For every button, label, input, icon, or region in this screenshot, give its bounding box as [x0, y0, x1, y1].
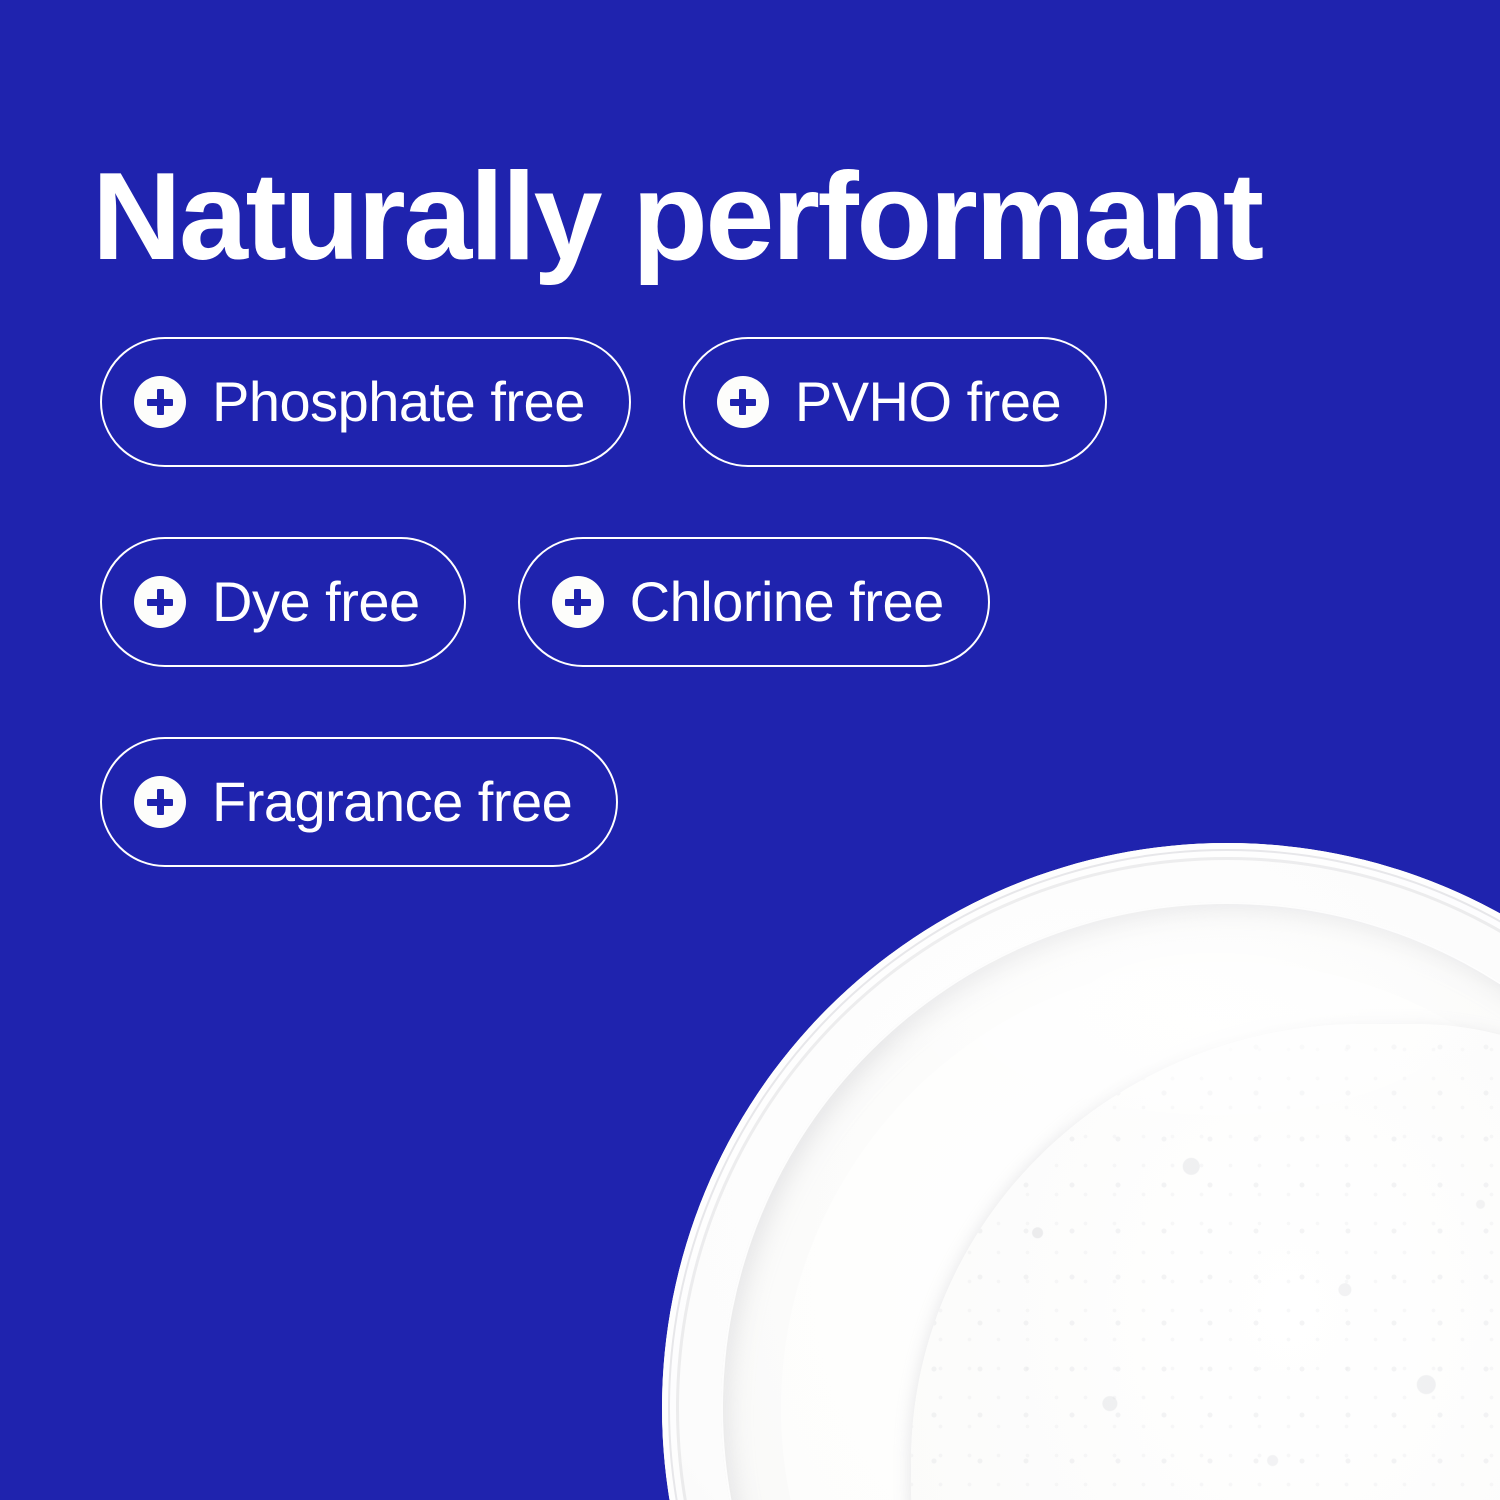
claims-row: Phosphate free PVHO free: [100, 337, 1400, 467]
page-title: Naturally performant: [92, 155, 1422, 279]
claim-pill-pvho-free[interactable]: PVHO free: [683, 337, 1107, 467]
plus-circle-icon: [134, 776, 186, 828]
claim-pill-fragrance-free[interactable]: Fragrance free: [100, 737, 618, 867]
claims-list: Phosphate free PVHO free Dye free Chlori…: [100, 337, 1400, 867]
claim-pill-label: Fragrance free: [212, 774, 572, 830]
claim-pill-label: PVHO free: [795, 374, 1061, 430]
claim-pill-dye-free[interactable]: Dye free: [100, 537, 466, 667]
plus-circle-icon: [717, 376, 769, 428]
promo-banner: Naturally performant Phosphate free PVHO…: [0, 0, 1500, 1500]
plus-circle-icon: [552, 576, 604, 628]
plus-circle-icon: [134, 376, 186, 428]
claim-pill-label: Dye free: [212, 574, 420, 630]
claim-pill-label: Chlorine free: [630, 574, 944, 630]
foam-bowl-image: [662, 843, 1500, 1500]
claim-pill-chlorine-free[interactable]: Chlorine free: [518, 537, 990, 667]
claim-pill-label: Phosphate free: [212, 374, 585, 430]
claims-row: Dye free Chlorine free: [100, 537, 1400, 667]
claim-pill-phosphate-free[interactable]: Phosphate free: [100, 337, 631, 467]
plus-circle-icon: [134, 576, 186, 628]
bowl-rim: [662, 843, 1500, 1500]
